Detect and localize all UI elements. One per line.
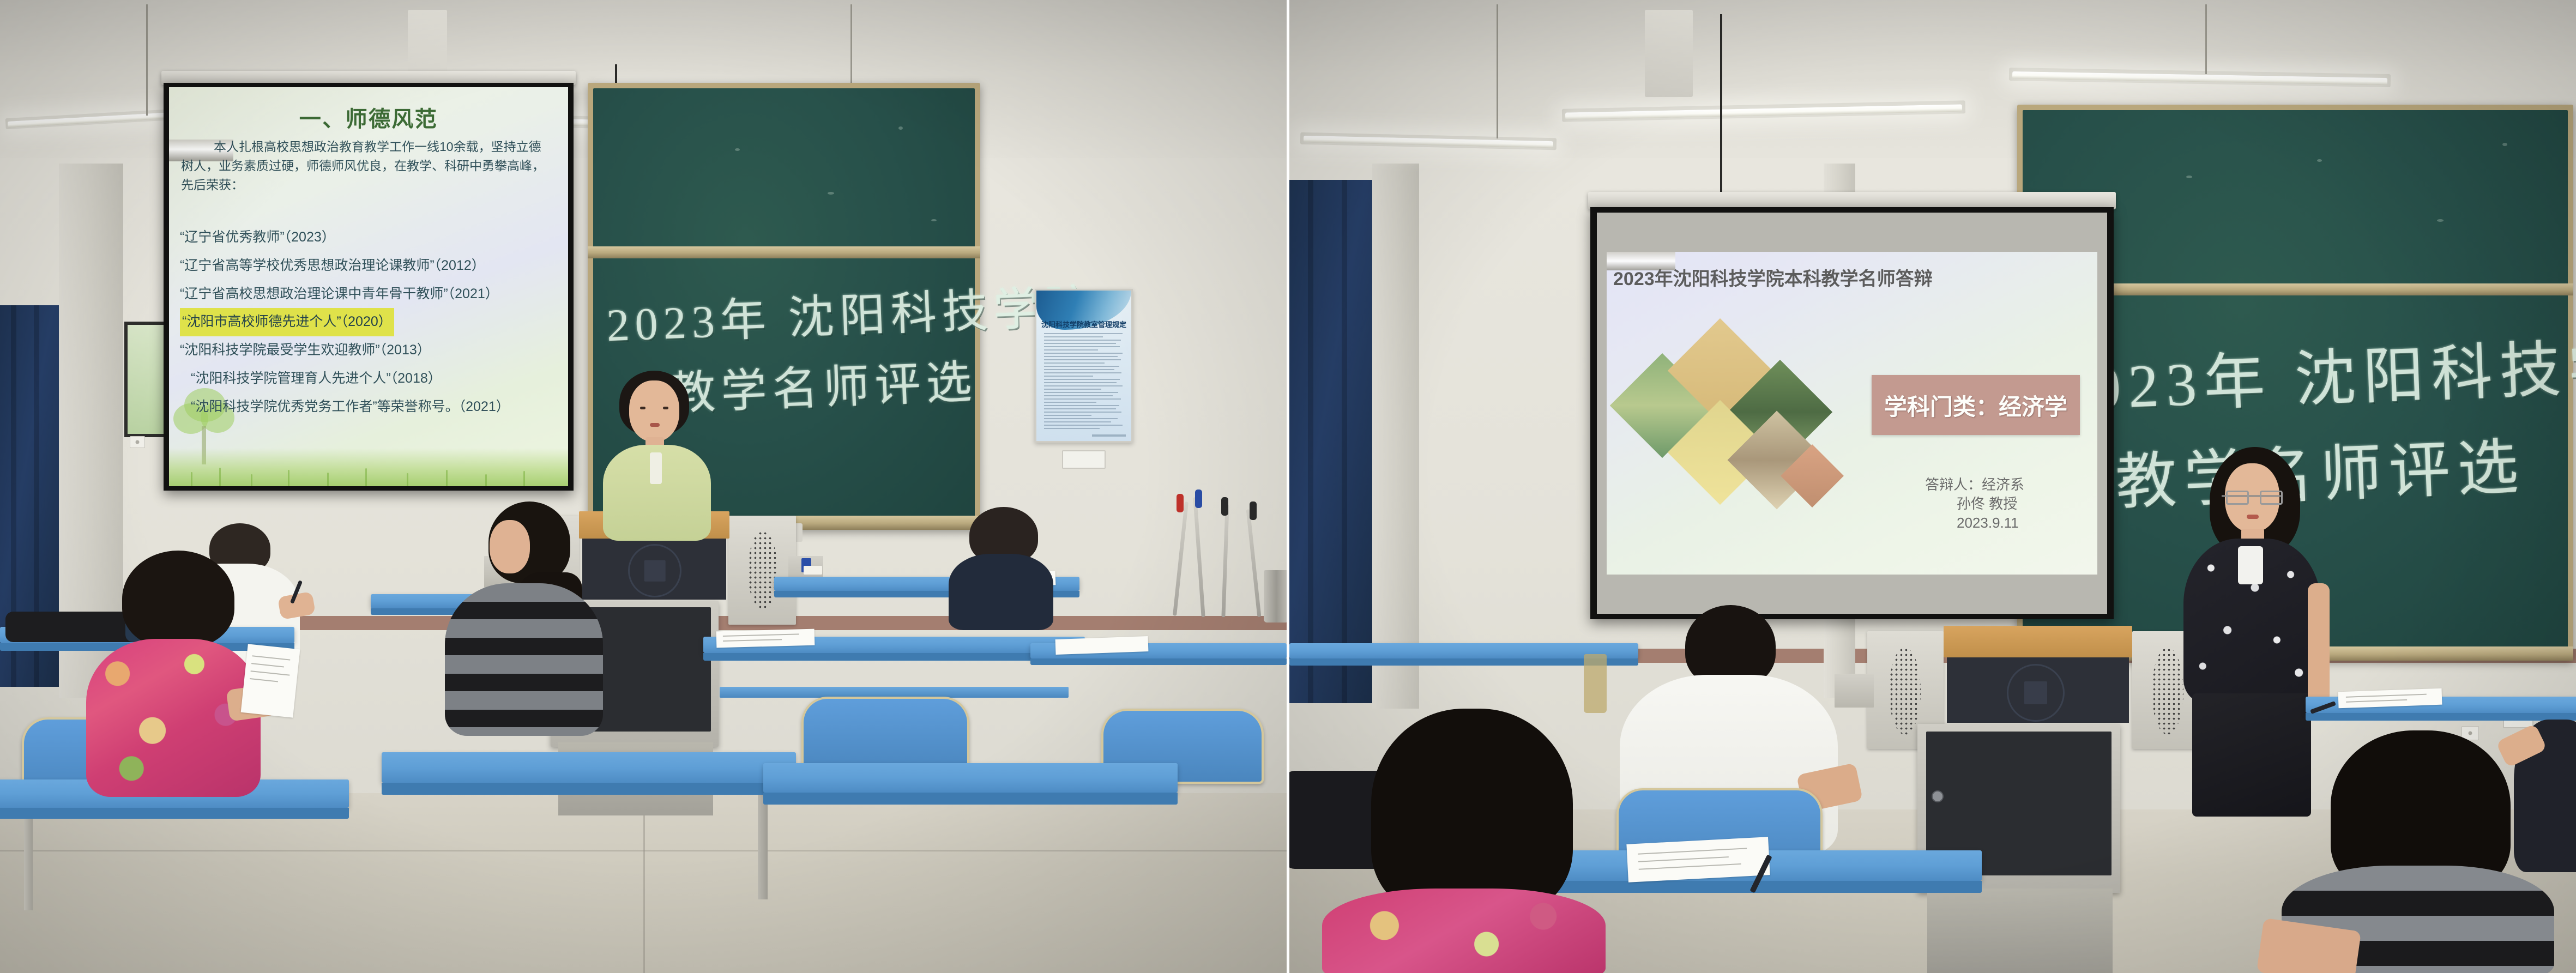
slide-presenter-line: 孙佟 教授: [1925, 494, 2024, 513]
chalk-pack[interactable]: [804, 566, 822, 575]
slide-subject-banner: 学科门类：经济学: [1872, 375, 2080, 435]
right-classroom-photo: 2023年 沈阳科技学院 教学名师评选 2023年沈阳科技学院本科教学名师答辩: [1289, 0, 2576, 973]
notice-board-title: 沈阳科技学院教室管理规定: [1036, 319, 1131, 329]
slide-left: 一、师德风范 本人扎根高校思想政治教育教学工作一线10余载，坚持立德 树人，业务…: [169, 87, 568, 486]
broom-head: [1250, 501, 1257, 520]
slide-title: 一、师德风范: [169, 101, 568, 133]
photo-composite: 2023年 沈阳科技学院 教学名师评选: [0, 0, 2576, 973]
light-hanger: [146, 4, 148, 116]
mop-head: [1195, 489, 1202, 508]
slide-award-item: “沈阳科技学院优秀党务工作者”等荣誉称号。（2021）: [180, 393, 565, 421]
desk-front-center: [1551, 850, 1982, 973]
projector-screen: 2023年沈阳科技学院本科教学名师答辩 学科门类：经济学 答辩人：经济系 孙佟 …: [1590, 207, 2114, 619]
podium-left-speaker-grill: [1889, 648, 1921, 735]
panel-divider: [1287, 0, 1289, 973]
window-curtain: [1289, 180, 1372, 703]
slide-intro-line: 树人，业务素质过硬，师德师风优良，在教学、科研中勇攀高峰，: [181, 156, 560, 176]
water-bottle[interactable]: [1584, 654, 1607, 713]
blackboard-text-line2: 教学名师评选: [668, 345, 979, 423]
attendee-grey-black-stripes: [436, 501, 611, 763]
slide-intro-line: 本人扎根高校思想政治教育教学工作一线10余载，坚持立德: [181, 137, 560, 156]
slide-award-item: “辽宁省优秀教师”（2023）: [180, 223, 565, 252]
slide-body: 本人扎根高校思想政治教育教学工作一线10余载，坚持立德 树人，业务素质过硬，师德…: [181, 137, 560, 195]
projector-screen: 一、师德风范 本人扎根高校思想政治教育教学工作一线10余载，坚持立德 树人，业务…: [164, 83, 574, 491]
presenter-left-panel: [600, 371, 714, 534]
podium-right-speaker-grill: [2152, 648, 2183, 735]
slide-award-list: “辽宁省优秀教师”（2023） “辽宁省高等学校优秀思想政治理论课教师”（201…: [180, 223, 565, 421]
slide-presenter-block: 答辩人：经济系 孙佟 教授 2023.9.11: [1925, 475, 2024, 533]
light-hanger: [1497, 4, 1498, 138]
slide-subject-banner-text: 学科门类：经济学: [1884, 389, 2067, 422]
podium-front-panel: [1947, 657, 2129, 723]
notice-board: 沈阳科技学院教室管理规定: [1035, 289, 1133, 443]
notice-board-body: [1044, 333, 1126, 429]
slide-presenter-line: 2023.9.11: [1925, 513, 2024, 533]
slide-right: 2023年沈阳科技学院本科教学名师答辩 学科门类：经济学 答辩人：经济系 孙佟 …: [1607, 252, 2097, 575]
slide-award-item-highlighted: “沈阳市高校师德先进个人”（2020）: [180, 308, 394, 336]
power-socket[interactable]: [130, 436, 145, 448]
ceiling-duct: [1645, 10, 1693, 97]
handout-paper[interactable]: [1626, 837, 1770, 883]
slide-award-item: “沈阳科技学院最受学生欢迎教师”（2013）: [180, 336, 565, 365]
notice-board-footer: [1092, 434, 1126, 437]
podium-cabinet-lock[interactable]: [1932, 790, 1944, 802]
slide-presenter-line: 答辩人：经济系: [1925, 475, 2024, 494]
wall-pillar: [1372, 164, 1419, 709]
attendee-long-dark-hair: [1322, 709, 1606, 973]
paper-sheet[interactable]: [1055, 636, 1149, 655]
wall-plaque: [1062, 450, 1106, 469]
screen-fabric: 2023年沈阳科技学院本科教学名师答辩 学科门类：经济学 答辩人：经济系 孙佟 …: [1597, 213, 2107, 614]
attendee-dark-navy: [943, 507, 1058, 616]
handout-paper[interactable]: [241, 644, 300, 717]
university-emblem: [628, 544, 681, 597]
podium-right-speaker-grill: [748, 531, 777, 611]
university-emblem: [2007, 664, 2065, 722]
desk-front-right: [382, 752, 796, 899]
paper-sheet[interactable]: [716, 629, 815, 648]
slide-award-item: “辽宁省高校思想政治理论课中青年骨干教师”（2021）: [180, 280, 565, 309]
left-classroom-photo: 2023年 沈阳科技学院 教学名师评选: [0, 0, 1287, 973]
mop-head: [1177, 494, 1184, 512]
attendee-floral-pink: [81, 551, 266, 823]
trash-bin: [1264, 570, 1287, 623]
attendee-grey-black-stripes: [2260, 730, 2565, 973]
podium-desktop: [1944, 626, 2132, 657]
slide-grass-decoration: [169, 448, 568, 486]
attendee-floral-top: [1322, 889, 1606, 973]
slide-award-item: “沈阳科技学院管理育人先进个人”（2018）: [180, 365, 565, 393]
slide-header-title: 2023年沈阳科技学院本科教学名师答辩: [1613, 264, 1933, 291]
broom-head: [1221, 497, 1228, 516]
light-hanger: [2205, 4, 2207, 74]
slide-award-item: “辽宁省高等学校优秀思想政治理论课教师”（2012）: [180, 252, 565, 280]
presenter-face: [629, 380, 679, 442]
blackboard-chalk-rail: [588, 246, 980, 258]
window: [124, 322, 169, 437]
slide-intro-line: 先后荣获：: [181, 176, 560, 195]
desk-front-far-right: [763, 763, 1178, 905]
